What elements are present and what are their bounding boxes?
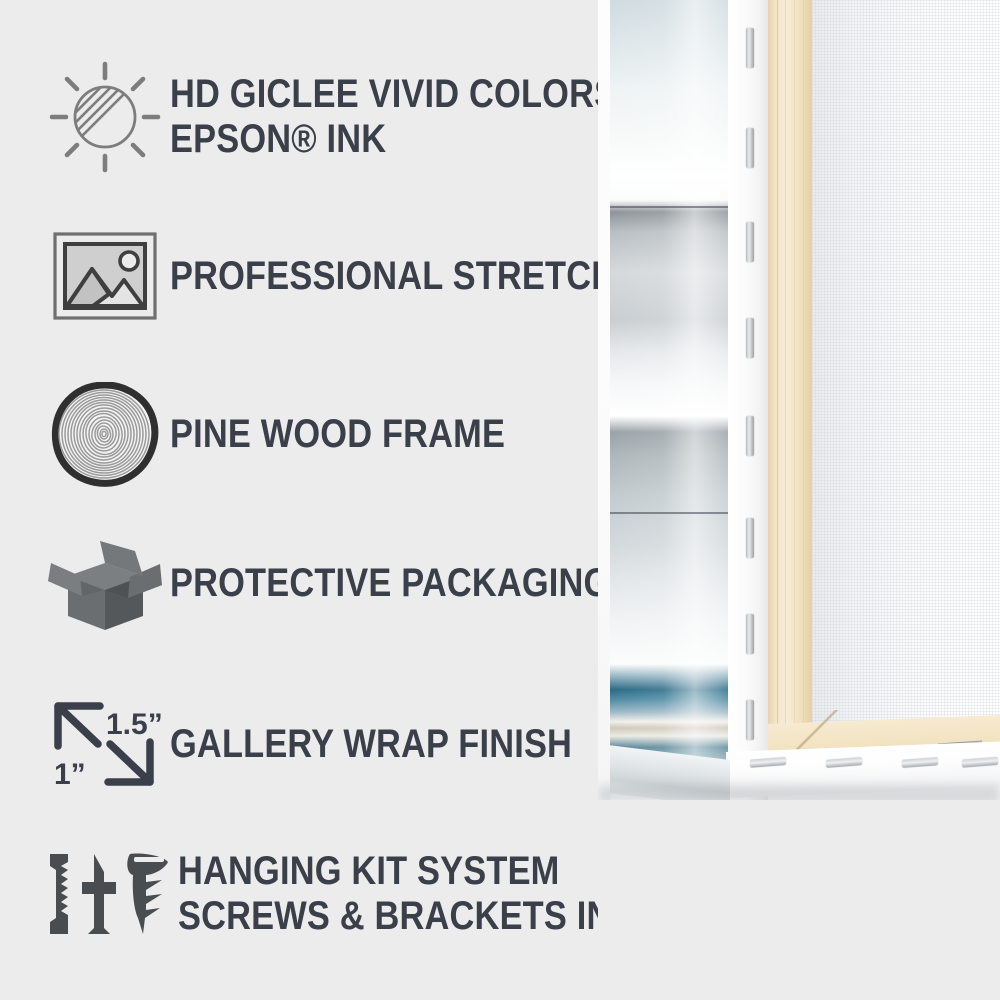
feature-label: GALLERY WRAP FINISH — [170, 722, 572, 767]
staple — [746, 700, 754, 740]
feature-protective-packaging: PROTECTIVE PACKAGING — [40, 530, 682, 636]
feature-label: PINE WOOD FRAME — [170, 412, 505, 457]
framed-picture-icon — [40, 228, 170, 324]
canvas-back-weave — [812, 0, 1000, 760]
feature-label: HD GICLEE VIVID COLORS EPSON® INK — [170, 72, 617, 162]
feature-pine-wood-frame: PINE WOOD FRAME — [40, 382, 560, 487]
staple — [746, 416, 754, 456]
wood-grain — [777, 0, 778, 760]
sun-icon — [40, 58, 170, 176]
staple — [746, 518, 754, 558]
staple — [826, 757, 862, 768]
feature-label: PROTECTIVE PACKAGING — [170, 561, 610, 606]
miter-fold-line — [610, 206, 728, 208]
wood-grain — [794, 0, 795, 760]
staple — [746, 318, 754, 358]
staple — [750, 757, 786, 768]
staple — [902, 757, 938, 768]
staple — [746, 128, 754, 168]
corner-arrows-dimension-icon: 1.5” 1” — [40, 692, 170, 796]
feature-hd-giclee: HD GICLEE VIVID COLORS EPSON® INK — [40, 58, 690, 176]
dimension-label-small: 1” — [54, 758, 86, 791]
canvas-corner-photo — [598, 0, 1000, 1000]
miter-fold-line — [610, 512, 728, 514]
pine-stretcher-bar — [768, 0, 812, 760]
wood-grain — [785, 0, 786, 760]
hanging-hardware-icon — [30, 848, 178, 940]
wood-grain — [803, 0, 804, 760]
staple — [962, 757, 998, 768]
photo-lower-fill — [598, 800, 1000, 1000]
edge-sheen — [610, 0, 728, 800]
staple — [746, 614, 754, 654]
staple — [746, 222, 754, 262]
dimension-label-large: 1.5” — [106, 708, 163, 741]
feature-gallery-wrap-finish: 1.5” 1” GALLERY WRAP FINISH — [40, 692, 638, 796]
infographic-canvas: HD GICLEE VIVID COLORS EPSON® INK PROFES… — [0, 0, 1000, 1000]
printed-canvas-edge — [610, 0, 728, 800]
tree-rings-icon — [40, 382, 170, 487]
staple — [746, 28, 754, 68]
gallery-wrap-side — [728, 0, 768, 800]
open-box-icon — [40, 530, 170, 636]
